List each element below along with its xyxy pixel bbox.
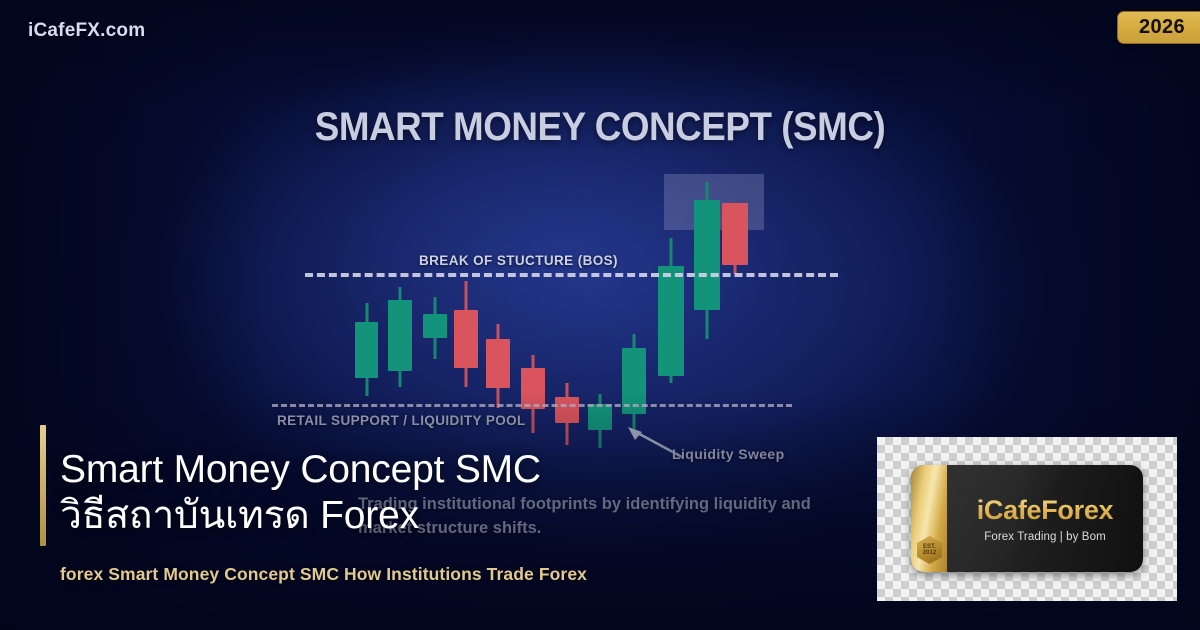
logo-subtitle: Forex Trading | by Bom: [947, 531, 1143, 543]
og-image-canvas: SMART MONEY CONCEPT (SMC) BREAK OF STUCT…: [0, 0, 1200, 630]
hero-tagline: forex Smart Money Concept SMC How Instit…: [60, 564, 587, 585]
page-title: Smart Money Concept SMC วิธีสถาบันเทรด F…: [60, 447, 541, 539]
logo-brand: iCafeForex: [947, 495, 1143, 526]
est-badge-line2: 2012: [923, 550, 937, 556]
logo-plate: iCafeForex Forex Trading | by Bom EST. 2…: [911, 465, 1143, 572]
site-name: iCafeFX.com: [28, 20, 145, 42]
page-title-line1: Smart Money Concept SMC: [60, 448, 541, 491]
logo-card: iCafeForex Forex Trading | by Bom EST. 2…: [877, 437, 1177, 601]
year-badge: 2026: [1117, 11, 1200, 44]
page-title-line2: วิธีสถาบันเทรด Forex: [60, 493, 541, 539]
accent-bar: [40, 425, 46, 546]
